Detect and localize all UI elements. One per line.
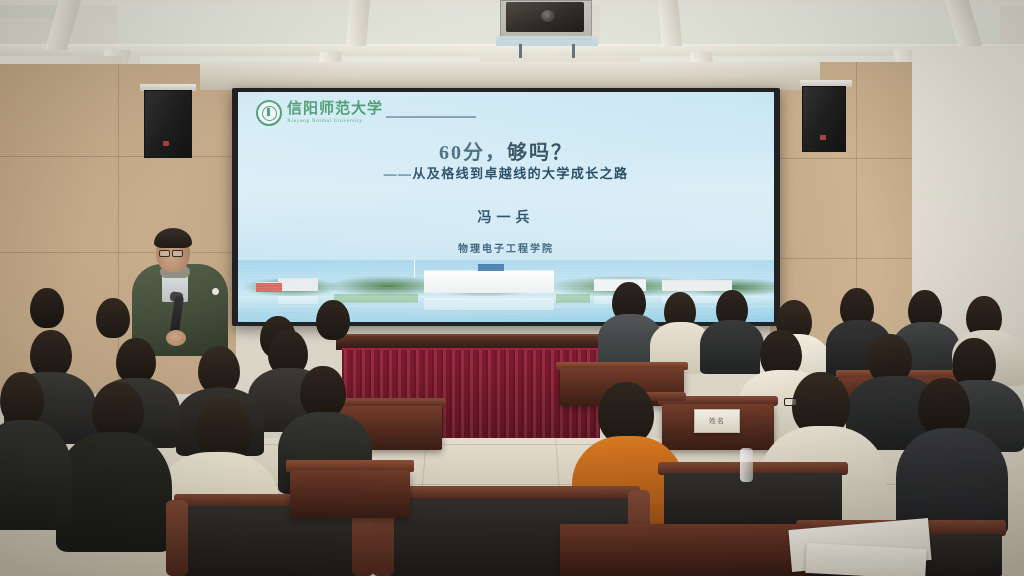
slide-subtitle: ——从及格线到卓越线的大学成长之路 <box>238 163 774 182</box>
slide-department: 物理电子工程学院 <box>238 240 774 255</box>
screen-soffit <box>200 62 820 90</box>
wall-speaker-right <box>802 86 846 152</box>
projector-mount-plate <box>496 36 598 46</box>
wall-speaker-left <box>144 90 192 158</box>
bench-post <box>166 500 188 576</box>
projector-lens-icon <box>541 10 555 22</box>
presenter-hand <box>166 330 186 346</box>
slide-title-part2: 够吗？ <box>507 142 573 164</box>
presenter-badge <box>212 288 219 295</box>
university-crest-icon <box>256 100 282 126</box>
lecture-hall-photo: 信阳师范大学 Xinyang Normal University 60分，够吗？… <box>0 0 1024 576</box>
slide-title: 60分，够吗？ <box>238 136 774 165</box>
projector-rod <box>572 44 575 58</box>
university-name-cn: 信阳师范大学 <box>287 102 383 117</box>
projector-rod <box>519 44 522 58</box>
name-placard-text: 姓名 <box>695 416 739 426</box>
water-bottle <box>740 448 753 482</box>
presenter-glasses <box>159 250 170 257</box>
university-logo: 信阳师范大学 Xinyang Normal University <box>256 100 383 126</box>
slide-title-part1: 60分， <box>439 142 507 164</box>
title-slide: 信阳师范大学 Xinyang Normal University 60分，够吗？… <box>238 92 774 322</box>
presenter-glasses <box>172 250 183 257</box>
audience-glasses <box>784 398 797 406</box>
desk <box>290 470 410 518</box>
university-name-en: Xinyang Normal University <box>287 119 383 124</box>
documents-on-desk <box>805 543 926 576</box>
name-placard: 姓名 <box>694 409 740 433</box>
slide-speaker-name: 冯一兵 <box>238 207 774 227</box>
front-desk <box>560 524 810 576</box>
logo-divider-rule <box>386 116 476 118</box>
